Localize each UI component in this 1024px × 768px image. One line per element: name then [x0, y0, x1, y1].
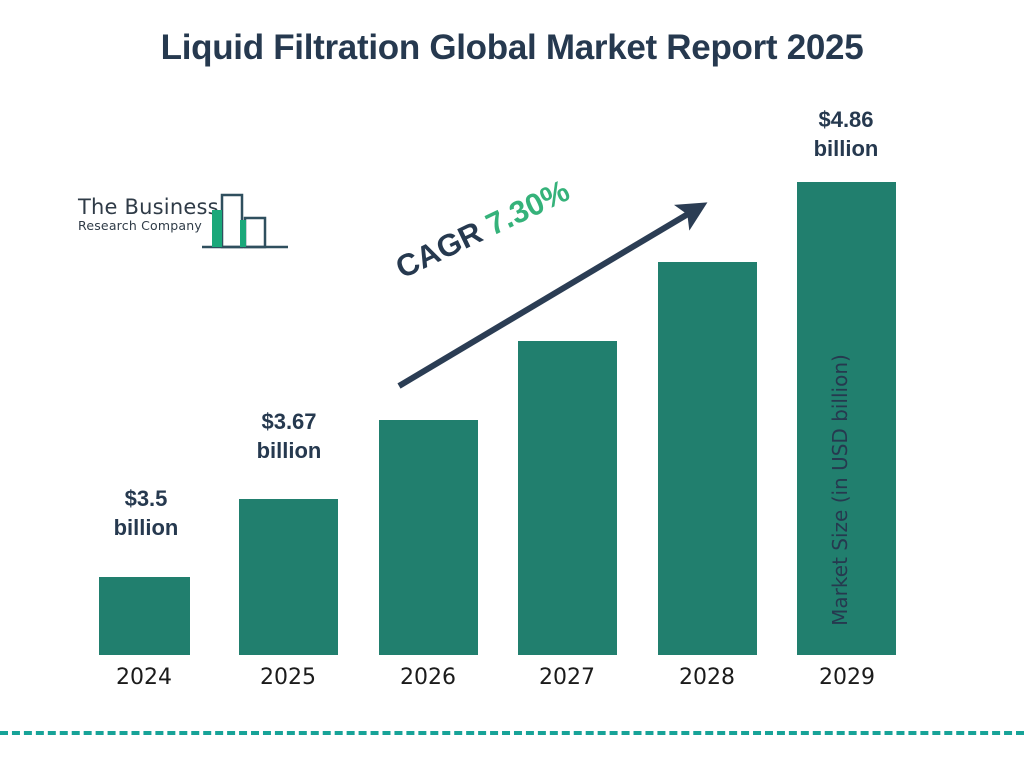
bar-value-2025: $3.67 billion [209, 407, 369, 466]
logo-line-1: The Business [78, 196, 219, 218]
bar-2026 [379, 420, 478, 655]
bar-2025 [239, 499, 338, 655]
x-tick-2025: 2025 [228, 665, 348, 690]
x-tick-2029: 2029 [787, 665, 907, 690]
logo: The Business Research Company [72, 192, 287, 254]
cagr-word: CAGR [390, 214, 487, 285]
x-tick-2027: 2027 [507, 665, 627, 690]
bar-value-2029-line2: billion [766, 134, 926, 163]
bottom-divider [0, 731, 1024, 735]
bar-value-2025-line2: billion [209, 436, 369, 465]
bar-value-2029: $4.86 billion [766, 105, 926, 164]
bar-2027 [518, 341, 617, 655]
bar-value-2024: $3.5 billion [66, 484, 226, 543]
x-tick-2028: 2028 [647, 665, 767, 690]
bar-2024 [99, 577, 190, 655]
x-tick-2024: 2024 [84, 665, 204, 690]
logo-bars-icon [200, 192, 290, 259]
page-title: Liquid Filtration Global Market Report 2… [0, 28, 1024, 68]
bar-value-2029-line1: $4.86 [766, 105, 926, 134]
bar-value-2025-line1: $3.67 [209, 407, 369, 436]
cagr-label: CAGR 7.30% [390, 173, 575, 286]
bar-value-2024-line2: billion [66, 513, 226, 542]
logo-line-2: Research Company [78, 219, 219, 232]
logo-text: The Business Research Company [78, 196, 219, 232]
cagr-value: 7.30% [480, 173, 574, 242]
x-tick-2026: 2026 [368, 665, 488, 690]
chart-page: Liquid Filtration Global Market Report 2… [0, 0, 1024, 768]
bar-2028 [658, 262, 757, 655]
bar-value-2024-line1: $3.5 [66, 484, 226, 513]
y-axis-title: Market Size (in USD billion) [828, 325, 852, 655]
